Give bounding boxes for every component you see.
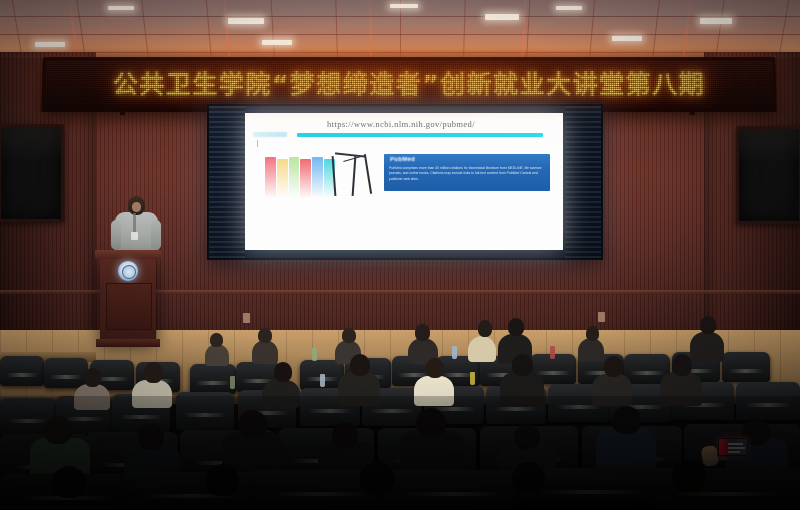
audience-member-head (512, 462, 545, 493)
presenter (112, 196, 160, 258)
auditorium-seat (44, 358, 88, 388)
presenter-face (132, 202, 141, 212)
presenter-lanyard (133, 213, 136, 233)
audience-member-head (612, 406, 641, 434)
phone-ui-row-1 (728, 443, 743, 445)
audience-member-torso (132, 380, 172, 408)
presenter-badge (131, 232, 138, 240)
audience-member-torso (262, 380, 300, 408)
phone-ui-row-2 (728, 447, 745, 449)
audience-member-head (604, 356, 623, 377)
audience-member-head (415, 324, 430, 341)
audience-member-head (350, 354, 370, 376)
book-spine (265, 157, 276, 199)
audience-member-head (332, 422, 358, 448)
audience-member-torso (690, 332, 724, 362)
audience-member-head (274, 362, 292, 382)
audience-member-head (360, 462, 394, 494)
ceiling-light (612, 36, 642, 41)
ceiling-light (35, 42, 65, 47)
audience-member-head (672, 354, 692, 376)
presentation-slide: https://www.ncbi.nlm.nih.gov/pubmed/ Pub… (245, 113, 563, 250)
audience-member-torso (252, 340, 278, 364)
ceiling-light (228, 18, 264, 24)
pubmed-info-body: PubMed comprises more than 30 million ci… (389, 166, 545, 182)
audience-member-head (426, 358, 444, 378)
presenter-head (128, 196, 145, 215)
lecture-hall-photo: 公共卫生学院“梦想缔造者”创新就业大讲堂第八期 https://www.ncbi… (0, 0, 800, 510)
audience-member-head (138, 424, 164, 450)
panel-gloss-right (739, 129, 799, 164)
screen-curtain-left (209, 106, 245, 258)
slide-browser-stub (253, 132, 287, 137)
book-spine (289, 157, 300, 199)
audience-member-head (508, 318, 524, 336)
ceiling-light (556, 6, 582, 10)
water-bottle (550, 346, 555, 359)
presenter-arm-left (111, 220, 121, 250)
audience-member-torso (205, 344, 229, 366)
audience-member-head (44, 416, 72, 444)
book-spines-graphic (265, 157, 335, 199)
audience-member-head (512, 354, 533, 376)
audience-member-head (258, 328, 272, 343)
slide-url-text: https://www.ncbi.nlm.nih.gov/pubmed/ (245, 119, 557, 129)
university-seal-icon (118, 261, 138, 281)
audience-member-head (210, 333, 223, 347)
easel-graphic (331, 154, 379, 202)
water-bottle (230, 376, 235, 389)
auditorium-seat (176, 392, 234, 430)
ceiling-light (262, 40, 292, 45)
left-wall-display-panel (0, 124, 64, 222)
smartphone (717, 437, 749, 457)
audience-member-head (84, 368, 101, 387)
audience-member-head (672, 460, 706, 492)
book-spine (312, 157, 323, 199)
audience-member-torso (468, 336, 496, 362)
audience-member-head (514, 424, 540, 449)
pubmed-info-box: PubMed PubMed comprises more than 30 mil… (384, 154, 550, 191)
audience-member-torso (578, 338, 604, 362)
lectern-base (96, 339, 160, 347)
audience-member-head (238, 410, 267, 438)
wall-outlet-right (598, 312, 605, 322)
auditorium-seat (382, 470, 526, 510)
slide-accent-bar (297, 133, 543, 137)
right-wall-display-panel (736, 126, 800, 224)
ceiling-light (700, 18, 732, 24)
audience-member-head (342, 328, 356, 343)
pubmed-info-title: PubMed (390, 157, 415, 163)
ceiling-light (485, 14, 519, 20)
auditorium-seat (0, 356, 44, 386)
water-bottle (320, 374, 325, 387)
audience-member-head (416, 408, 446, 437)
book-spine (277, 159, 288, 199)
lectern (100, 255, 156, 341)
ceiling-light (108, 6, 134, 10)
panel-gloss-left (1, 127, 61, 162)
audience-member-head (144, 362, 163, 383)
projection-screen: https://www.ncbi.nlm.nih.gov/pubmed/ Pub… (207, 104, 603, 260)
audience-member-head (478, 320, 492, 337)
wall-outlet-left (243, 313, 250, 323)
ceiling (0, 0, 800, 64)
water-bottle (452, 346, 457, 359)
screen-curtain-right (565, 106, 601, 258)
audience-member-torso (500, 372, 544, 406)
auditorium-seat (736, 382, 800, 420)
book-spine (300, 159, 311, 199)
presenter-arm-right (151, 220, 161, 250)
led-banner-text: 公共卫生学院“梦想缔造者”创新就业大讲堂第八期 (113, 72, 706, 97)
water-bottle (312, 348, 317, 361)
audience-member-torso (414, 376, 454, 406)
lectern-front-panel (106, 283, 152, 330)
audience-member-torso (592, 374, 632, 406)
phone-ui-row-3 (728, 451, 740, 453)
ceiling-light (390, 4, 418, 8)
audience-member-head (700, 316, 716, 334)
auditorium-seat (722, 352, 770, 382)
audience-member-torso (74, 384, 110, 410)
audience-member-head (206, 464, 239, 496)
lectern-top (95, 250, 161, 259)
audience-member-torso (338, 372, 380, 406)
slide-cursor-tick (257, 140, 258, 147)
water-bottle (470, 372, 475, 385)
audience-member-head (52, 466, 86, 498)
university-seal-inner (122, 265, 136, 279)
audience-member-head (586, 326, 599, 341)
audience-member-torso (660, 372, 702, 406)
